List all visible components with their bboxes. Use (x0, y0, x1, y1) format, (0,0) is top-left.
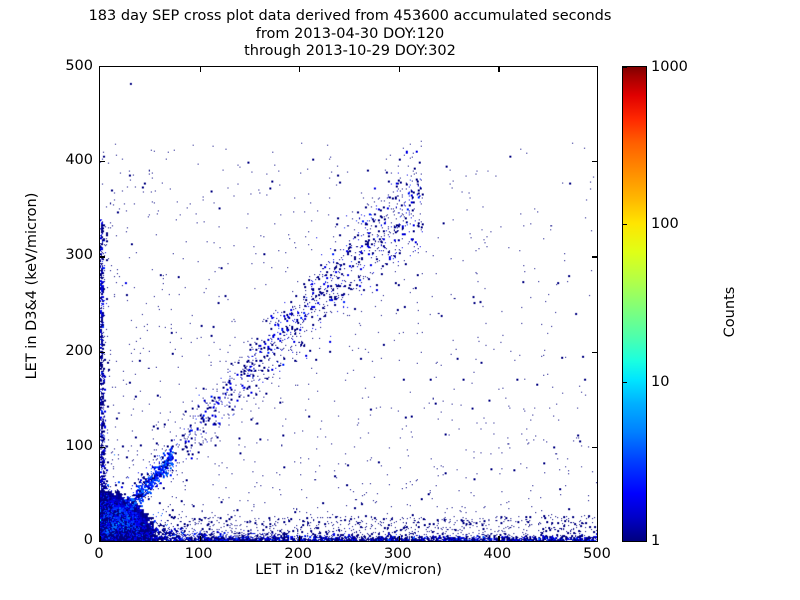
y-ticklabel-100: 100 (43, 438, 93, 454)
plot-title-line-3: through 2013-10-29 DOY:302 (0, 43, 700, 61)
x-ticklabel-200: 200 (284, 546, 312, 562)
y-tick-200 (100, 352, 105, 353)
x-tick-100 (200, 536, 201, 541)
x-tick-500 (597, 536, 598, 541)
y-tick-right-400 (592, 161, 597, 162)
x-tick-top-300 (399, 67, 400, 72)
y-tick-400 (100, 161, 105, 162)
x-ticklabel-0: 0 (94, 546, 103, 562)
x-tick-400 (498, 536, 499, 541)
colorbar-tick-10 (622, 382, 627, 383)
y-tick-0 (100, 541, 105, 542)
y-ticklabel-300: 300 (43, 247, 93, 263)
plot-title: 183 day SEP cross plot data derived from… (0, 8, 700, 61)
scatter-heatmap (100, 67, 597, 541)
x-ticklabel-100: 100 (185, 546, 213, 562)
y-tick-100 (100, 447, 105, 448)
x-tick-top-200 (299, 67, 300, 72)
plot-title-line-2: from 2013-04-30 DOY:120 (0, 26, 700, 44)
y-ticklabel-500: 500 (43, 58, 93, 74)
plot-title-line-1: 183 day SEP cross plot data derived from… (0, 8, 700, 26)
y-tick-right-200 (592, 352, 597, 353)
colorbar-tick-1000 (622, 67, 627, 68)
x-tick-300 (399, 536, 400, 541)
y-ticklabel-400: 400 (43, 152, 93, 168)
colorbar-ticklabel-10: 10 (651, 374, 669, 390)
colorbar-ticklabel-100: 100 (651, 216, 679, 232)
x-ticklabel-400: 400 (484, 546, 512, 562)
x-ticklabel-500: 500 (583, 546, 611, 562)
colorbar-tick-1 (622, 541, 627, 542)
x-ticklabel-300: 300 (384, 546, 412, 562)
y-tick-300 (100, 256, 105, 257)
y-ticklabel-200: 200 (43, 343, 93, 359)
colorbar-ticklabel-1: 1 (651, 533, 660, 549)
y-axis-label: LET in D3&4 (keV/micron) (24, 136, 40, 436)
colorbar-ticklabel-1000: 1000 (651, 59, 688, 75)
x-tick-top-100 (200, 67, 201, 72)
colorbar (622, 66, 647, 542)
figure-canvas: 183 day SEP cross plot data derived from… (0, 0, 800, 600)
x-tick-top-400 (498, 67, 499, 72)
y-ticklabel-0: 0 (43, 532, 93, 548)
y-tick-right-100 (592, 447, 597, 448)
x-axis-label: LET in D1&2 (keV/micron) (99, 562, 598, 578)
x-tick-200 (299, 536, 300, 541)
colorbar-tick-100 (622, 224, 627, 225)
y-tick-right-300 (592, 256, 597, 257)
plot-axes (99, 66, 598, 542)
colorbar-label: Counts (722, 232, 738, 392)
